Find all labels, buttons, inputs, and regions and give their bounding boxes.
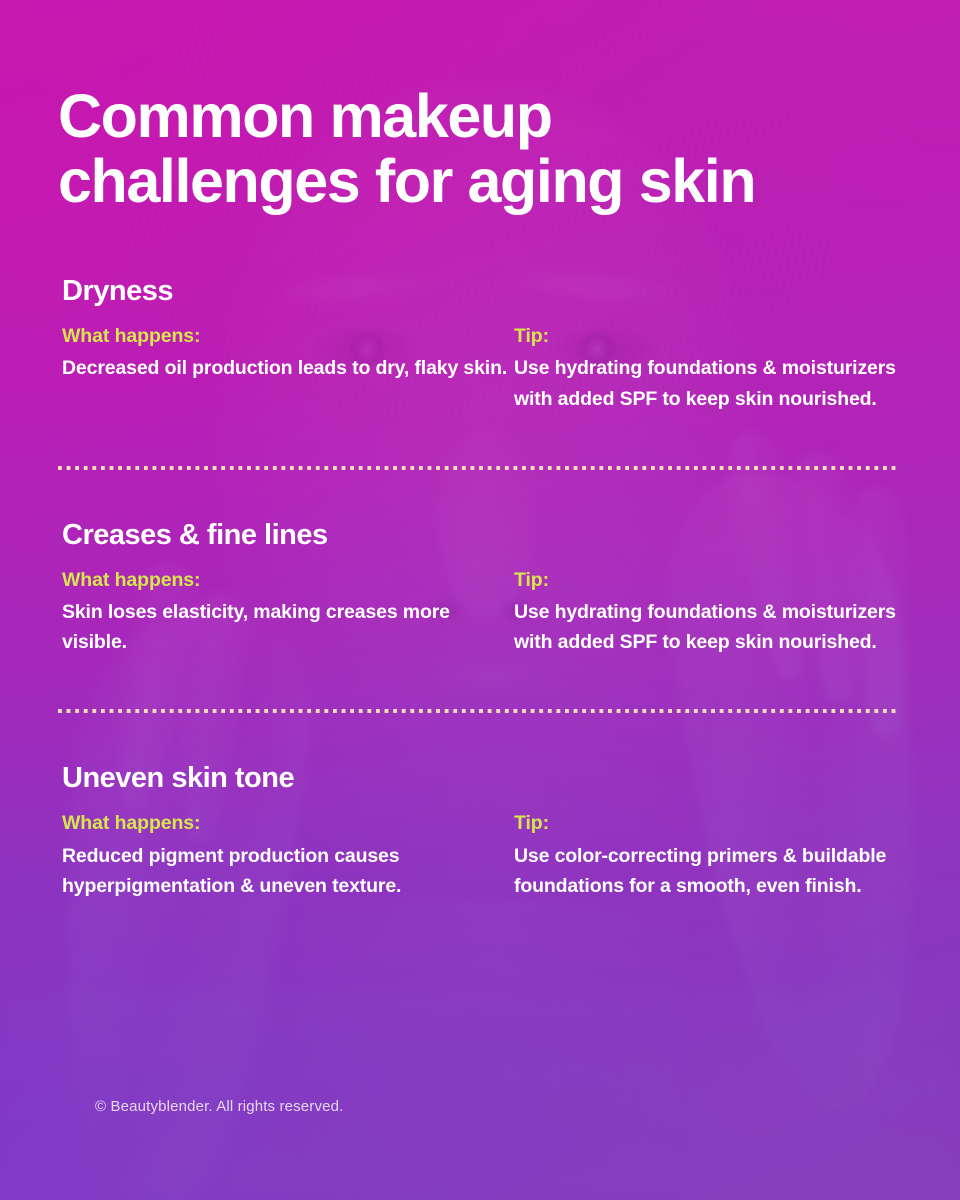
spacer [0,414,960,466]
section-heading: Creases & fine lines [62,518,902,552]
what-happens-column: What happens: Reduced pigment production… [58,809,510,900]
section-heading: Uneven skin tone [62,761,902,795]
section-dryness: Dryness What happens: Decreased oil prod… [0,274,960,414]
page-title-line-1: Common makeup [58,84,888,149]
section-columns: What happens: Reduced pigment production… [58,809,902,900]
section-columns: What happens: Decreased oil production l… [58,322,902,413]
section-creases-fine-lines: Creases & fine lines What happens: Skin … [0,518,960,658]
page-title-line-2: challenges for aging skin [58,149,888,214]
tip-text: Use hydrating foundations & moisturizers… [514,597,910,657]
what-happens-column: What happens: Skin loses elasticity, mak… [58,566,510,657]
tip-label: Tip: [514,566,910,594]
tip-label: Tip: [514,322,910,350]
sections-list: Dryness What happens: Decreased oil prod… [0,274,960,901]
copyright-footer: © Beautyblender. All rights reserved. [95,1098,343,1115]
section-uneven-skin-tone: Uneven skin tone What happens: Reduced p… [0,761,960,901]
content-layer: Common makeup challenges for aging skin … [0,0,960,1200]
tip-column: Tip: Use hydrating foundations & moistur… [510,322,910,413]
section-columns: What happens: Skin loses elasticity, mak… [58,566,902,657]
what-happens-label: What happens: [62,322,510,350]
what-happens-column: What happens: Decreased oil production l… [58,322,510,383]
what-happens-label: What happens: [62,566,510,594]
what-happens-text: Reduced pigment production causes hyperp… [62,841,510,901]
section-heading: Dryness [62,274,902,308]
tip-column: Tip: Use hydrating foundations & moistur… [510,566,910,657]
what-happens-label: What happens: [62,809,510,837]
spacer [0,657,960,709]
tip-label: Tip: [514,809,910,837]
spacer [0,713,960,761]
tip-column: Tip: Use color-correcting primers & buil… [510,809,910,900]
tip-text: Use color-correcting primers & buildable… [514,841,910,901]
tip-text: Use hydrating foundations & moisturizers… [514,353,910,413]
page-title: Common makeup challenges for aging skin [58,84,888,215]
spacer [0,470,960,518]
infographic-canvas: Common makeup challenges for aging skin … [0,0,960,1200]
what-happens-text: Skin loses elasticity, making creases mo… [62,597,510,657]
what-happens-text: Decreased oil production leads to dry, f… [62,353,510,383]
